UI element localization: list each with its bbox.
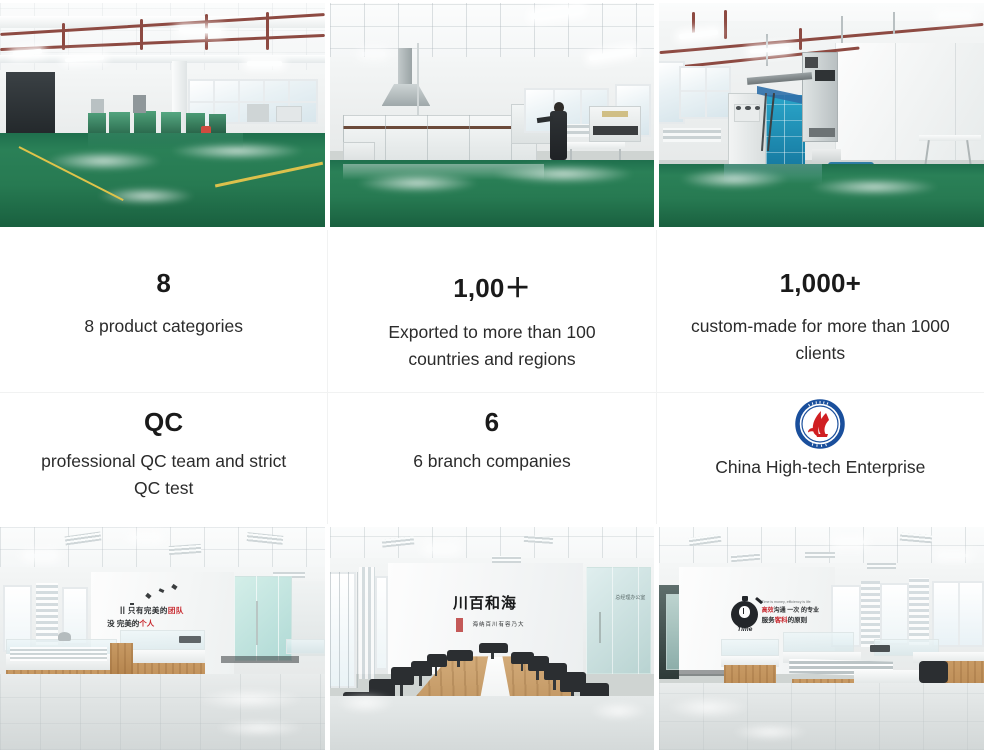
- bottom-photo-strip: ΙΙ 只有完美的团队 没 完美的个人: [0, 527, 984, 750]
- wall-calligraphy-subtitle: 海纳百川有容乃大: [473, 623, 525, 629]
- wall-slogan-line2: 服务客科的原则: [762, 618, 808, 625]
- stat-product-categories[interactable]: 8 8 product categories: [0, 230, 327, 392]
- stat-value: QC: [144, 407, 183, 438]
- meeting-room-photo[interactable]: 川百和海 海纳百川有容乃大 总经理办公室: [330, 527, 655, 750]
- reflow-oven-line-photo[interactable]: [330, 3, 655, 227]
- badge-container: [795, 399, 845, 449]
- wall-graphic-time-label: Time: [737, 627, 752, 634]
- company-profile-panel: 8 8 product categories 1,00＋ Exported to…: [0, 0, 984, 750]
- stat-high-tech-enterprise[interactable]: China High-tech Enterprise: [656, 392, 984, 524]
- stat-label: 8 product categories: [84, 313, 243, 340]
- stats-band: 8 8 product categories 1,00＋ Exported to…: [0, 230, 984, 524]
- wall-calligraphy: 川百和海: [453, 596, 517, 611]
- stats-row-1: 8 8 product categories 1,00＋ Exported to…: [0, 230, 984, 392]
- stat-label: professional QC team and strict QC test: [26, 448, 301, 502]
- stat-value: 1,000+: [780, 268, 861, 299]
- office-cubicles-photo[interactable]: ΙΙ 只有完美的团队 没 完美的个人: [0, 527, 325, 750]
- stats-row-2: QC professional QC team and strict QC te…: [0, 392, 984, 524]
- stat-label: 6 branch companies: [413, 448, 571, 475]
- stat-value: 6: [485, 407, 500, 438]
- stat-branch-companies[interactable]: 6 6 branch companies: [327, 392, 655, 524]
- stat-custom-made-clients[interactable]: 1,000+ custom-made for more than 1000 cl…: [656, 230, 984, 392]
- stat-value: 1,00＋: [453, 268, 531, 305]
- glass-door-text: 总经理办公室: [615, 596, 645, 601]
- top-photo-strip: [0, 3, 984, 227]
- wall-slogan-line2: 没 完美的个人: [107, 620, 154, 628]
- sales-office-photo[interactable]: Time Time is money, efficiency is life 高…: [659, 527, 984, 750]
- china-high-tech-badge-icon: [795, 399, 845, 449]
- stat-value: 8: [156, 268, 171, 299]
- stat-label: custom-made for more than 1000 clients: [683, 313, 958, 367]
- factory-workshop-photo[interactable]: [0, 3, 325, 227]
- wall-slogan-line1: 高效沟通 一次 的专业: [762, 608, 819, 614]
- wall-slogan-line1: ΙΙ 只有完美的团队: [120, 607, 184, 615]
- stat-label: China High-tech Enterprise: [715, 457, 925, 478]
- testing-equipment-photo[interactable]: [659, 3, 984, 227]
- wall-slogan-small: Time is money, efficiency is life: [762, 601, 811, 605]
- stat-label: Exported to more than 100 countries and …: [354, 319, 629, 373]
- stat-qc-team[interactable]: QC professional QC team and strict QC te…: [0, 392, 327, 524]
- stat-export-countries[interactable]: 1,00＋ Exported to more than 100 countrie…: [327, 230, 655, 392]
